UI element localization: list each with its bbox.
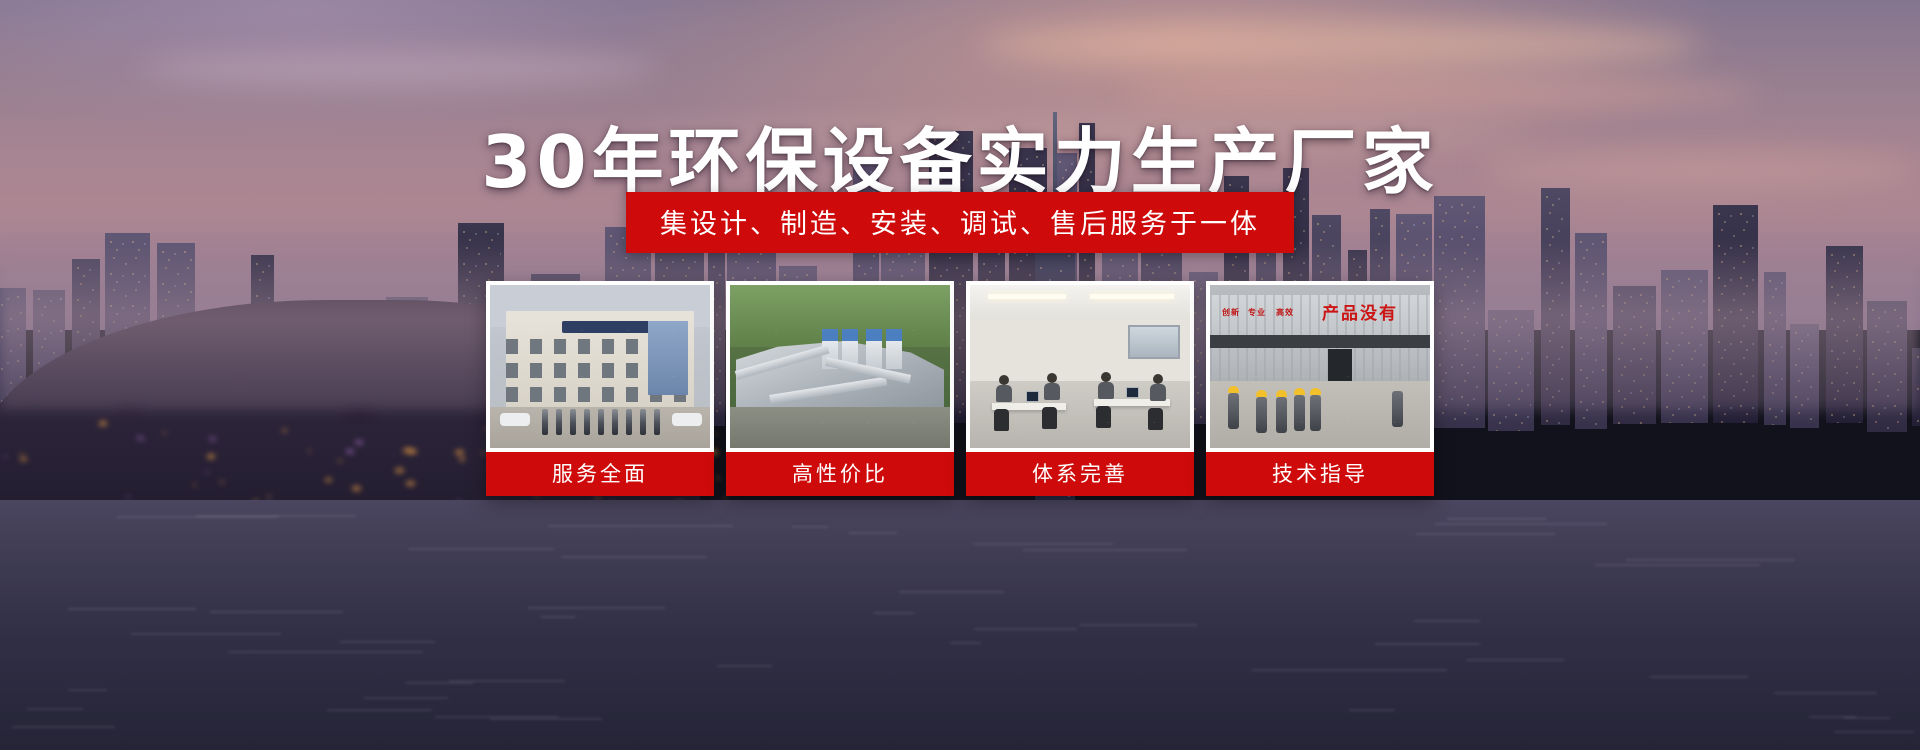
hero-banner: 30年环保设备实力生产厂家 集设计、制造、安装、调试、售后服务于一体	[0, 0, 1920, 750]
card-caption: 技术指导	[1206, 452, 1434, 496]
feature-card[interactable]: 体系完善	[966, 281, 1194, 496]
feature-card-list: 服务全面 高性价比	[486, 281, 1434, 496]
feature-card[interactable]: 产品没有 创新 专业 高效 技术指导	[1206, 281, 1434, 496]
card-image-plant-aerial	[730, 285, 950, 448]
card-image-office-interior	[970, 285, 1190, 448]
card-caption: 服务全面	[486, 452, 714, 496]
building-sign	[562, 321, 654, 333]
banner-subtitle: 集设计、制造、安装、调试、售后服务于一体	[626, 192, 1294, 253]
card-image-office-building	[490, 285, 710, 448]
factory-wall-sign: 产品没有	[1322, 299, 1398, 318]
banner-content: 30年环保设备实力生产厂家 集设计、制造、安装、调试、售后服务于一体	[0, 0, 1920, 750]
card-image-factory-yard: 产品没有 创新 专业 高效	[1210, 285, 1430, 448]
feature-card[interactable]: 高性价比	[726, 281, 954, 496]
card-caption: 体系完善	[966, 452, 1194, 496]
card-caption: 高性价比	[726, 452, 954, 496]
feature-card[interactable]: 服务全面	[486, 281, 714, 496]
